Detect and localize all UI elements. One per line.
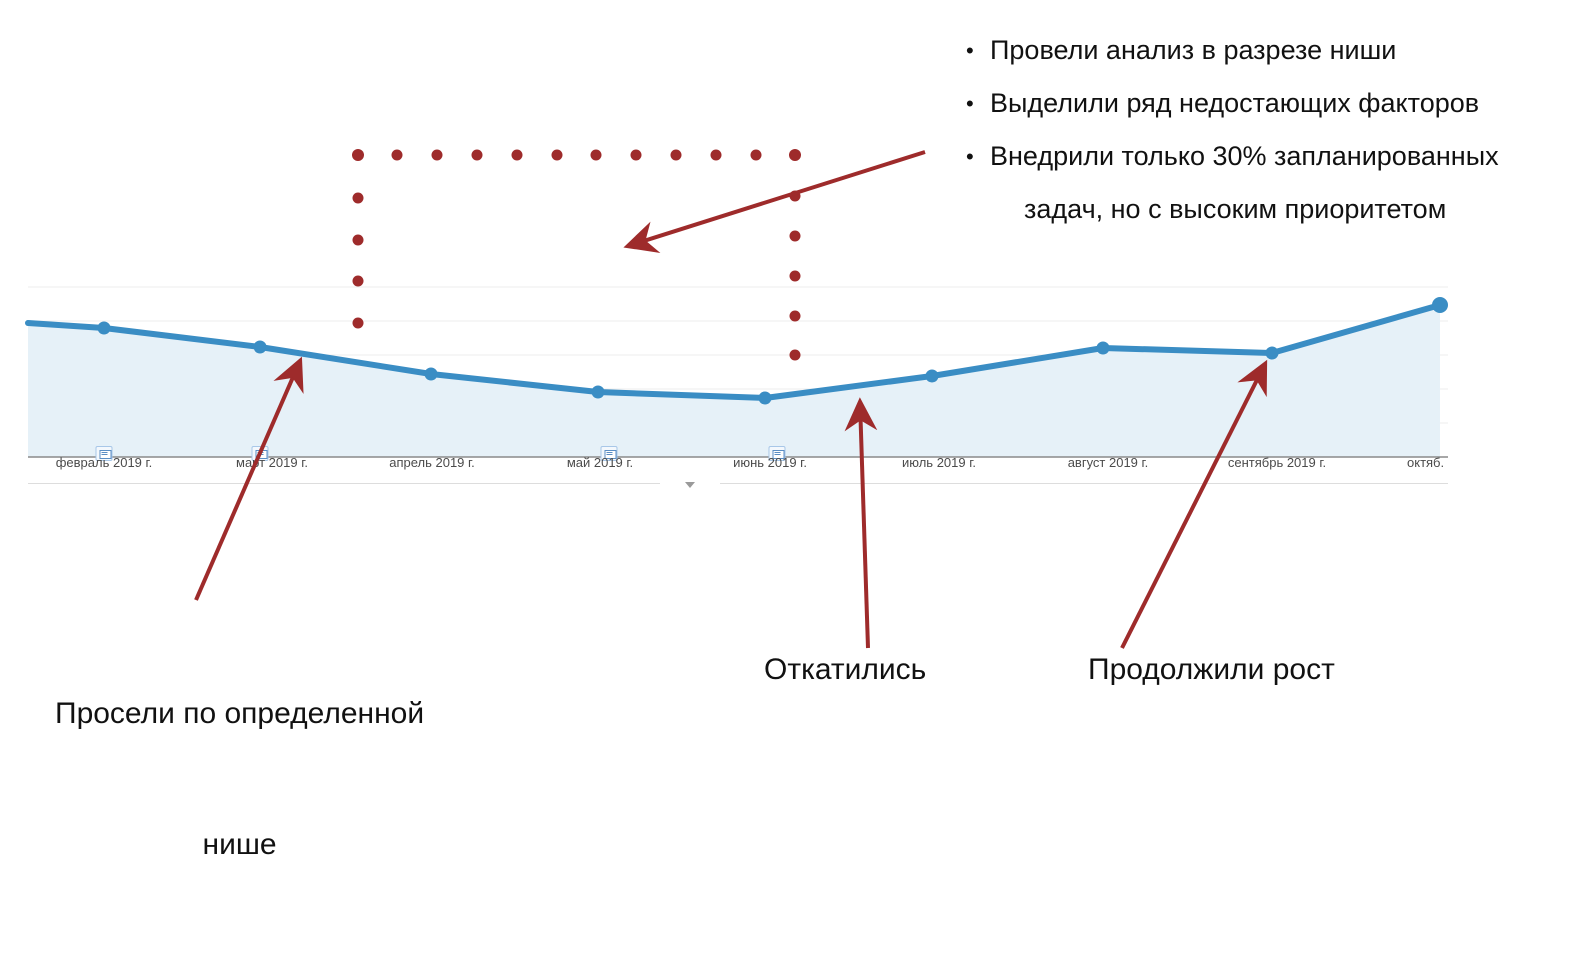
x-tick-label: октяб. (1407, 455, 1444, 470)
arrow-to-highlight-box (628, 152, 925, 246)
x-tick-label: июнь 2019 г. (733, 455, 807, 470)
bullet-list: • Провели анализ в разрезе ниши • Выдели… (966, 24, 1566, 236)
x-tick-label: июль 2019 г. (902, 455, 976, 470)
callout-rollback: Откатились (764, 648, 926, 692)
data-point (254, 341, 267, 354)
list-item-label: Выделили ряд недостающих факторов (990, 77, 1566, 130)
x-tick-label: сентябрь 2019 г. (1228, 455, 1326, 470)
data-point (926, 370, 939, 383)
callout-niche-line1: Просели по определенной (55, 692, 424, 736)
area-fill (28, 305, 1440, 457)
data-point (1266, 347, 1279, 360)
list-item-label-continued: задач, но с высоким приоритетом (990, 183, 1566, 236)
callout-niche-line2: нише (55, 823, 424, 867)
data-point (1097, 342, 1110, 355)
x-tick-label: февраль 2019 г. (56, 455, 153, 470)
list-item-label: Внедрили только 30% запланированных (990, 141, 1499, 171)
x-tick-label: март 2019 г. (236, 455, 308, 470)
slide-canvas: февраль 2019 г. март 2019 г. апрель 2019… (0, 0, 1570, 725)
list-item: • Выделили ряд недостающих факторов (966, 77, 1566, 130)
data-point (592, 386, 605, 399)
bullet-icon: • (966, 24, 990, 77)
x-tick-label: август 2019 г. (1068, 455, 1149, 470)
callout-niche: Просели по определенной нише (55, 605, 424, 953)
callout-growth: Продолжили рост (1088, 648, 1335, 692)
list-item: • Провели анализ в разрезе ниши (966, 24, 1566, 77)
list-item: • Внедрили только 30% запланированных за… (966, 130, 1566, 236)
data-point (425, 368, 438, 381)
axis-divider (28, 483, 1448, 484)
bullet-icon: • (966, 77, 990, 130)
list-item-label: Провели анализ в разрезе ниши (990, 24, 1566, 77)
chevron-down-icon[interactable] (660, 478, 720, 492)
bullet-icon: • (966, 130, 990, 183)
data-point (759, 392, 772, 405)
x-tick-label: апрель 2019 г. (389, 455, 475, 470)
data-point (1432, 297, 1448, 313)
x-axis-labels: февраль 2019 г. март 2019 г. апрель 2019… (0, 455, 1570, 477)
x-tick-label: май 2019 г. (567, 455, 633, 470)
data-point (98, 322, 111, 335)
